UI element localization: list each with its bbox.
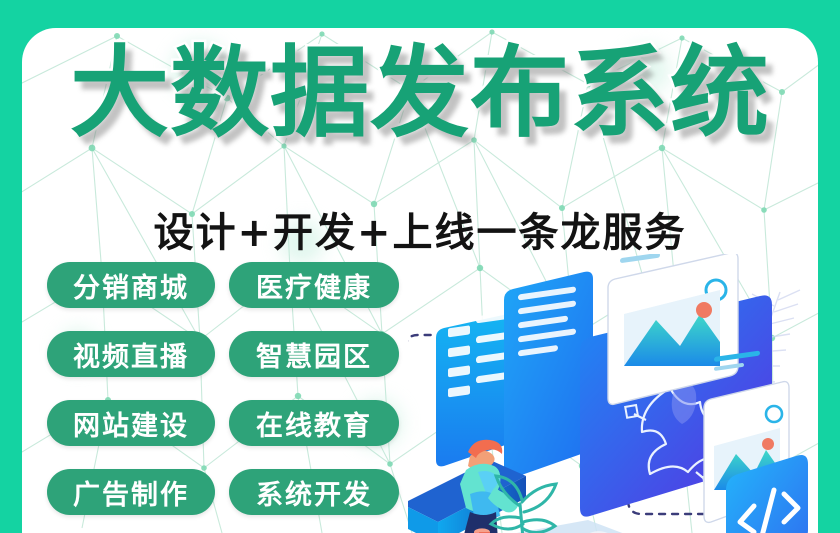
tag-label: 医疗健康 [256, 266, 372, 305]
tag-label: 网站建设 [73, 404, 189, 443]
service-tag-grid: 分销商城 医疗健康 视频直播 智慧园区 网站建设 在线教育 广告制作 系统开发 [47, 262, 399, 515]
tag-shipinzhibo[interactable]: 视频直播 [47, 331, 215, 377]
poster-card: 大数据发布系统 设计+开发+上线一条龙服务 分销商城 医疗健康 视频直播 智慧园… [22, 28, 818, 533]
poster-title: 大数据发布系统 [22, 42, 818, 147]
tag-label: 视频直播 [73, 335, 189, 374]
isometric-illustration [408, 254, 818, 533]
tag-label: 分销商城 [73, 266, 189, 305]
poster-subtitle: 设计+开发+上线一条龙服务 [22, 200, 818, 258]
tag-zhihuiyuanqu[interactable]: 智慧园区 [229, 331, 399, 377]
poster-root: 大数据发布系统 设计+开发+上线一条龙服务 分销商城 医疗健康 视频直播 智慧园… [0, 0, 840, 533]
tag-xitongkaifa[interactable]: 系统开发 [229, 469, 399, 515]
tag-label: 智慧园区 [256, 335, 372, 374]
tag-label: 广告制作 [73, 473, 189, 512]
tag-label: 在线教育 [256, 404, 372, 443]
tag-zaixianjiaoyu[interactable]: 在线教育 [229, 400, 399, 446]
tag-fenxiaoshangcheng[interactable]: 分销商城 [47, 262, 215, 308]
tag-wangzhanjianshe[interactable]: 网站建设 [47, 400, 215, 446]
tag-guanggaozhizuo[interactable]: 广告制作 [47, 469, 215, 515]
tag-label: 系统开发 [256, 473, 372, 512]
tag-yiliaojiankang[interactable]: 医疗健康 [229, 262, 399, 308]
